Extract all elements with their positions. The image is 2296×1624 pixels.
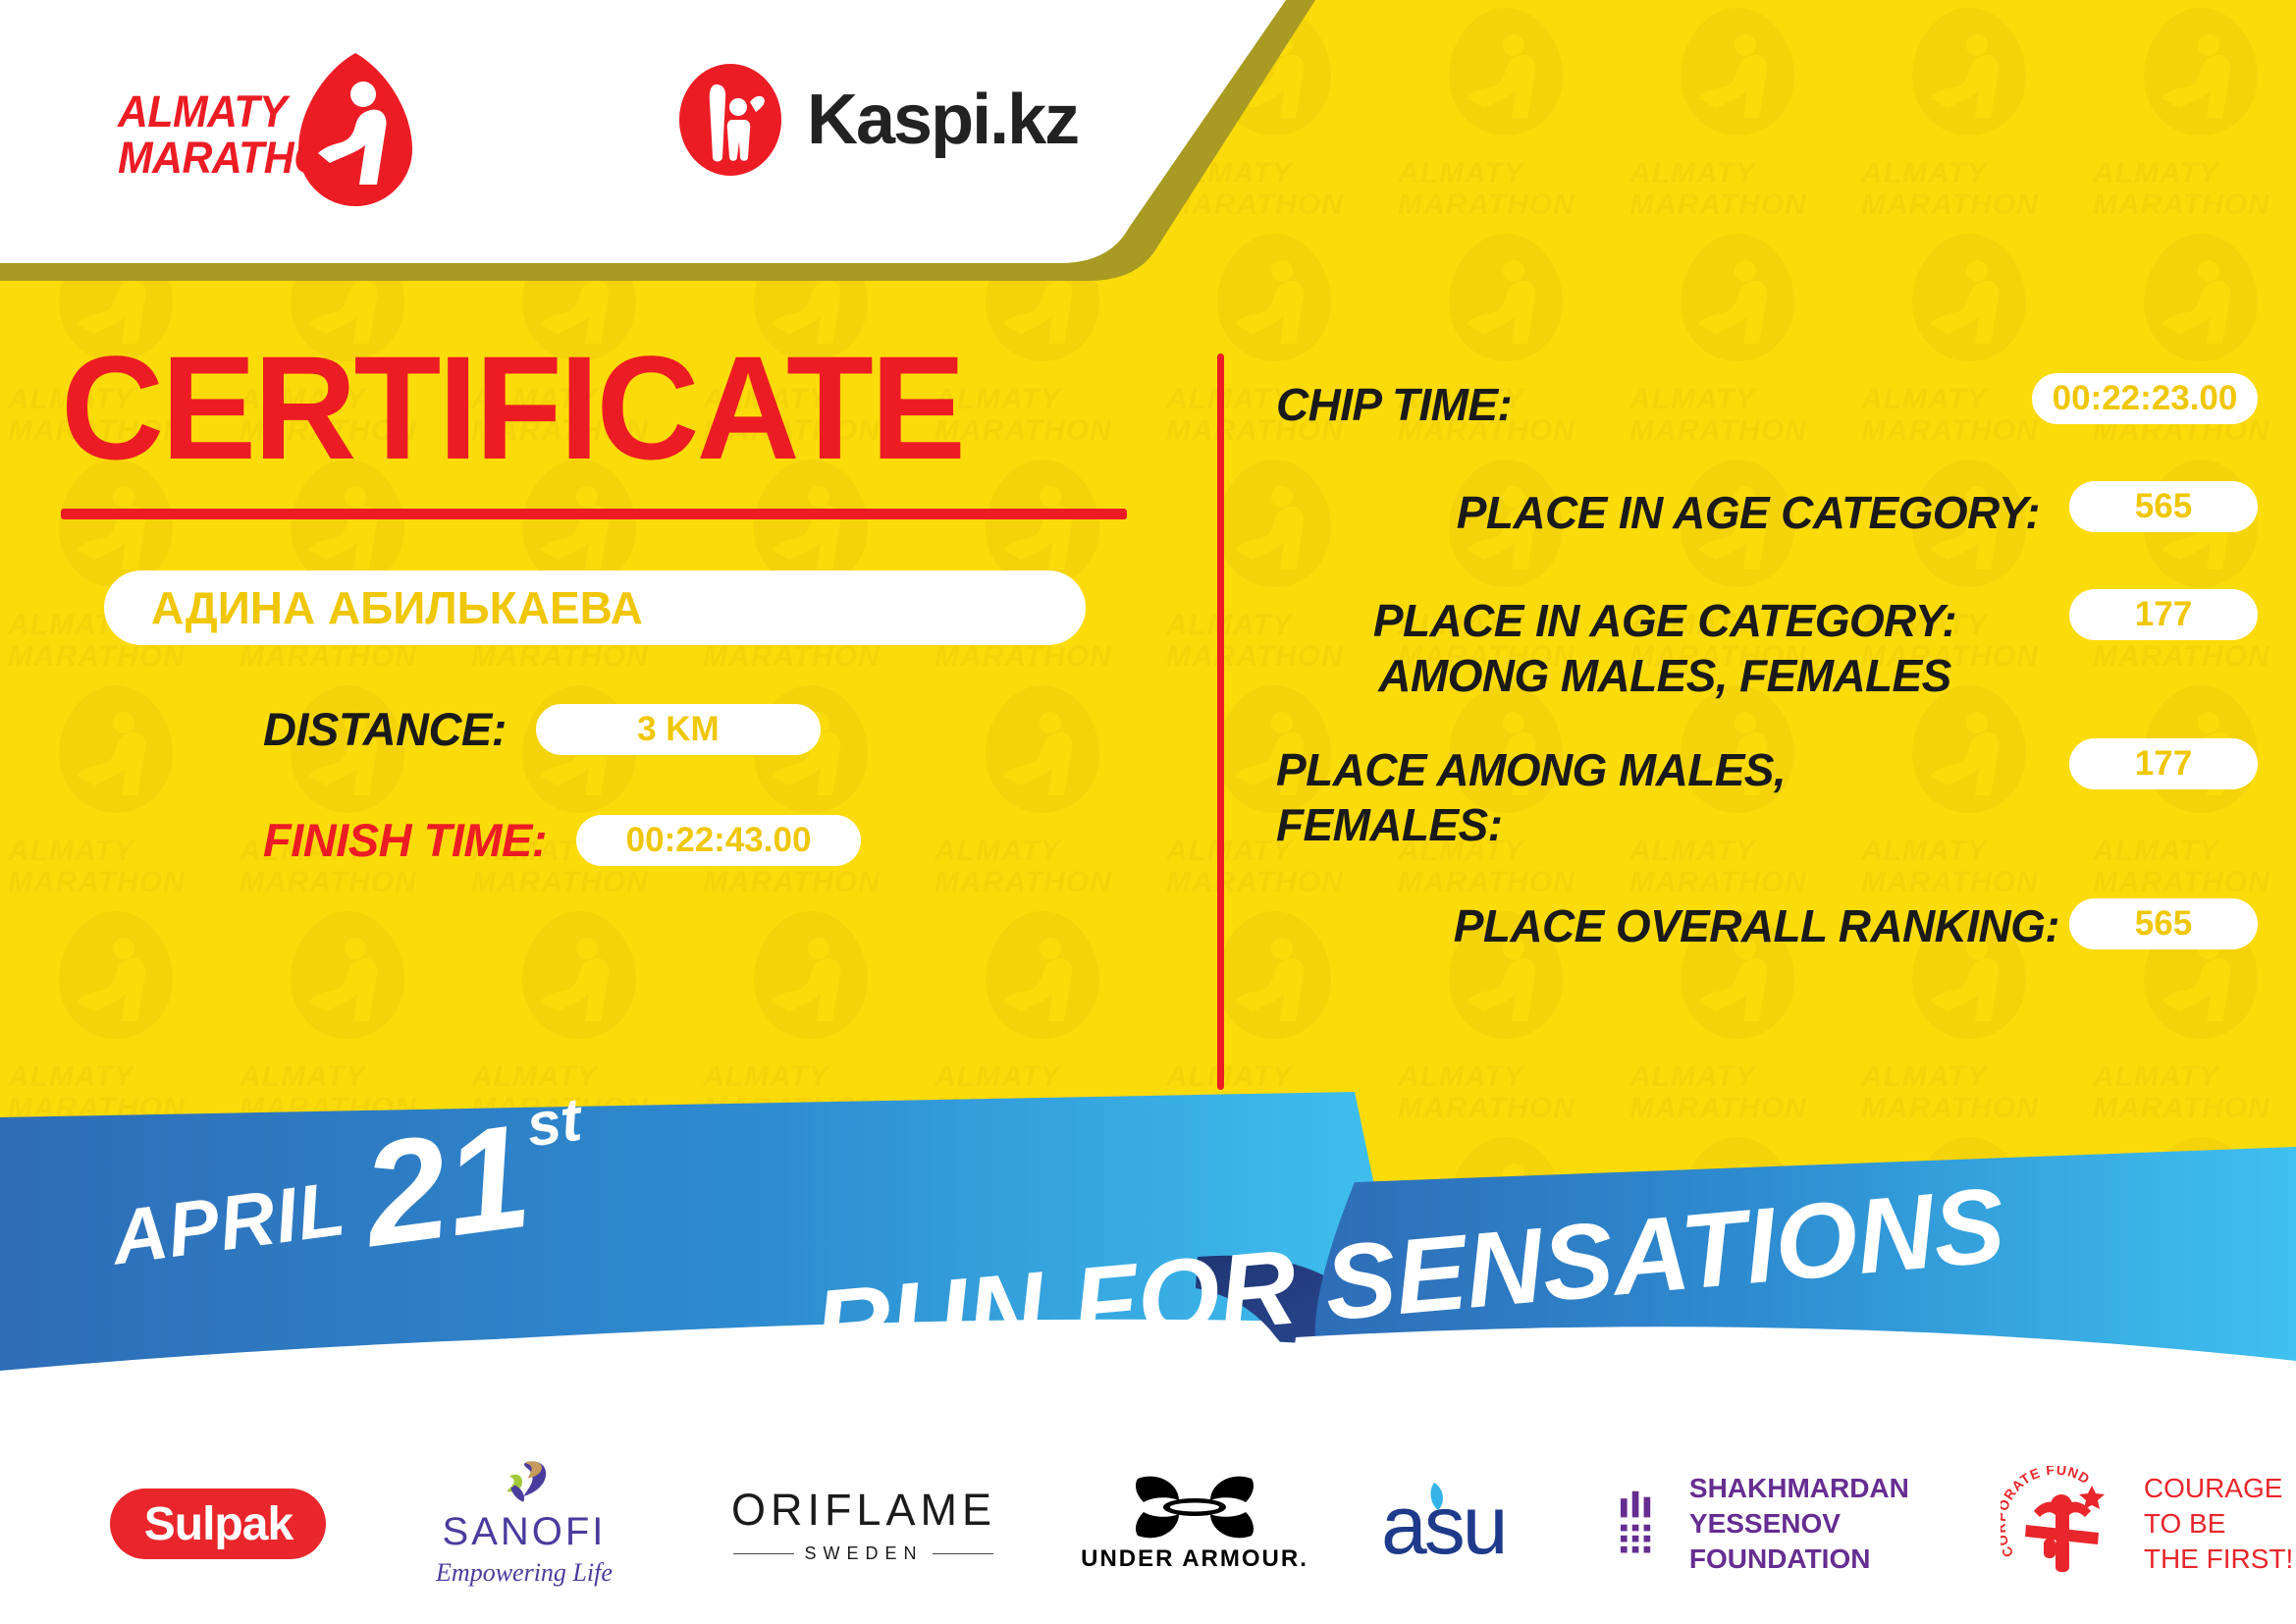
- sponsor-corporate-fund: CORPORATE FUND COURAGE TO BE THE FIRST!: [1998, 1460, 2296, 1588]
- svg-text:asu: asu: [1381, 1479, 1505, 1569]
- title-divider: [61, 509, 1127, 519]
- yessenov-mark-icon: [1618, 1478, 1664, 1570]
- finish-time-value: 00:22:43.00: [626, 821, 812, 860]
- yessenov-text: SHAKHMARDAN YESSENOV FOUNDATION: [1689, 1471, 1968, 1577]
- sponsor-oriflame: ORIFLAME SWEDEN: [715, 1460, 1013, 1588]
- certificate-title: CERTIFICATE: [61, 334, 1154, 481]
- place-overall-value: 565: [2135, 904, 2192, 944]
- finish-time-value-pill: 00:22:43.00: [576, 815, 861, 866]
- distance-value: 3 KM: [637, 710, 720, 749]
- corporate-fund-line2: TO BE: [2144, 1506, 2293, 1542]
- kaspi-wordmark: Kaspi.kz: [807, 80, 1078, 160]
- distance-value-pill: 3 KM: [536, 704, 821, 755]
- chip-time-value-pill: 00:22:23.00: [2032, 373, 2258, 424]
- sanofi-wordmark: SANOFI: [443, 1510, 607, 1554]
- place-among-gender-value: 177: [2135, 744, 2192, 784]
- oriflame-sub: SWEDEN: [733, 1543, 993, 1564]
- place-age-category-label: PLACE IN AGE CATEGORY:: [1276, 481, 2054, 540]
- participant-name-field[interactable]: АДИНА АБИЛЬКАЕВА: [104, 570, 1086, 645]
- place-age-category-value-pill: 565: [2069, 481, 2258, 532]
- kaspi-logo: Kaspi.kz: [677, 61, 1078, 179]
- place-age-category-gender-value-pill: 177: [2069, 589, 2258, 640]
- oriflame-rule-right: [933, 1553, 993, 1554]
- ribbon-day-suffix: st: [522, 1085, 585, 1162]
- stat-row-place-age-category: PLACE IN AGE CATEGORY: 565: [1276, 481, 2258, 554]
- under-armour-icon: [1130, 1475, 1259, 1540]
- ribbon-month: APRIL: [107, 1164, 351, 1282]
- sponsor-sulpak: Sulpak: [74, 1460, 363, 1588]
- place-among-gender-line1: PLACE AMONG MALES,: [1276, 742, 2054, 797]
- stat-row-place-overall: PLACE OVERALL RANKING: 565: [1276, 888, 2258, 960]
- place-among-gender-line2: FEMALES:: [1276, 797, 2054, 852]
- finish-time-label: FINISH TIME:: [263, 813, 547, 867]
- place-age-category-gender-line1: PLACE IN AGE CATEGORY:: [1276, 593, 2054, 648]
- oriflame-wordmark: ORIFLAME: [731, 1485, 996, 1536]
- oriflame-rule-left: [733, 1553, 794, 1554]
- place-age-category-value: 565: [2135, 487, 2192, 526]
- yessenov-line2: FOUNDATION: [1689, 1542, 1968, 1577]
- sponsor-sanofi: SANOFI Empowering Life: [393, 1460, 656, 1588]
- sponsor-asu: asu: [1376, 1460, 1578, 1588]
- distance-label: DISTANCE:: [263, 702, 507, 756]
- chip-time-label: CHIP TIME:: [1276, 373, 2016, 432]
- certificate-page: ALMATY MARATHON ALMATY MARATHON: [0, 0, 2296, 1624]
- place-age-category-gender-value: 177: [2135, 595, 2192, 634]
- asu-logo-icon: asu: [1379, 1479, 1575, 1569]
- place-among-gender-value-pill: 177: [2069, 738, 2258, 789]
- distance-row: DISTANCE: 3 KM: [263, 702, 1188, 756]
- runner-drop-icon: [296, 51, 414, 208]
- place-overall-value-pill: 565: [2069, 898, 2258, 949]
- sanofi-tagline: Empowering Life: [436, 1558, 613, 1588]
- stat-row-place-age-category-gender: PLACE IN AGE CATEGORY: AMONG MALES, FEMA…: [1276, 589, 2258, 703]
- almaty-marathon-logo: ALMATY MARATHON: [118, 51, 432, 208]
- place-overall-label: PLACE OVERALL RANKING:: [1276, 894, 2063, 953]
- corporate-fund-icon: CORPORATE FUND: [2001, 1466, 2128, 1582]
- sponsor-under-armour: UNDER ARMOUR.: [1072, 1460, 1317, 1588]
- place-age-category-gender-label: PLACE IN AGE CATEGORY: AMONG MALES, FEMA…: [1276, 589, 2054, 703]
- corporate-fund-wrap: CORPORATE FUND COURAGE TO BE THE FIRST!: [2001, 1466, 2293, 1582]
- chip-time-value: 00:22:23.00: [2053, 379, 2238, 418]
- stat-row-place-among-gender: PLACE AMONG MALES, FEMALES: 177: [1276, 738, 2258, 852]
- ribbon-day: 21: [357, 1111, 536, 1260]
- corporate-fund-line1: COURAGE: [2144, 1471, 2293, 1506]
- place-among-gender-label: PLACE AMONG MALES, FEMALES:: [1276, 738, 2054, 852]
- kaspi-person-icon: [677, 63, 783, 177]
- under-armour-wordmark: UNDER ARMOUR.: [1081, 1545, 1308, 1573]
- oriflame-country: SWEDEN: [804, 1543, 923, 1564]
- corporate-fund-text: COURAGE TO BE THE FIRST!: [2144, 1471, 2293, 1577]
- participant-name: АДИНА АБИЛЬКАЕВА: [151, 581, 643, 634]
- yessenov-line1: SHAKHMARDAN YESSENOV: [1689, 1471, 1968, 1542]
- place-age-category-gender-line2: AMONG MALES, FEMALES: [1276, 648, 2054, 703]
- stats-column: CHIP TIME: 00:22:23.00 PLACE IN AGE CATE…: [1276, 373, 2258, 996]
- sanofi-mark-icon: [484, 1460, 564, 1506]
- finish-time-row: FINISH TIME: 00:22:43.00: [263, 813, 1188, 867]
- sponsor-bar: Sulpak SANOFI Empowering Life ORIFLAME S…: [0, 1424, 2296, 1624]
- sulpak-wordmark: Sulpak: [144, 1497, 293, 1551]
- stat-row-chip-time: CHIP TIME: 00:22:23.00: [1276, 373, 2258, 446]
- left-column: CERTIFICATE АДИНА АБИЛЬКАЕВА DISTANCE: 3…: [0, 334, 1188, 867]
- sulpak-logo: Sulpak: [110, 1489, 326, 1559]
- header-logos: ALMATY MARATHON Kasp: [0, 0, 1178, 265]
- yessenov-wrap: SHAKHMARDAN YESSENOV FOUNDATION: [1618, 1471, 1968, 1577]
- corporate-fund-line3: THE FIRST!: [2144, 1542, 2293, 1577]
- column-divider: [1217, 353, 1224, 1090]
- sponsor-yessenov-foundation: SHAKHMARDAN YESSENOV FOUNDATION: [1618, 1460, 1968, 1588]
